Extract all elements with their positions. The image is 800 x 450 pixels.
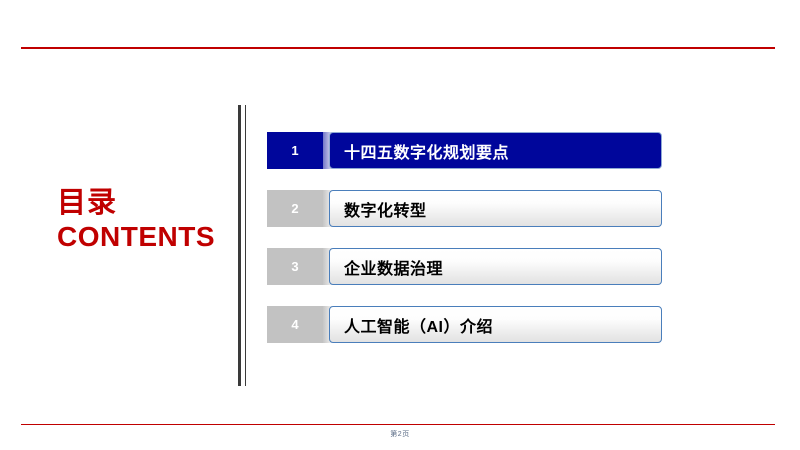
agenda-item-4[interactable]: 4 人工智能（AI）介绍 — [267, 306, 662, 343]
agenda-item-1-label[interactable]: 十四五数字化规划要点 — [329, 132, 662, 169]
agenda-item-4-number: 4 — [267, 306, 323, 343]
page-title: 目录 CONTENTS — [57, 188, 232, 251]
agenda-item-4-label[interactable]: 人工智能（AI）介绍 — [329, 306, 662, 343]
vertical-accent-bar-thin — [245, 105, 246, 386]
agenda-item-3-number: 3 — [267, 248, 323, 285]
vertical-accent-bar-thick — [238, 105, 241, 386]
agenda-item-3[interactable]: 3 企业数据治理 — [267, 248, 662, 285]
page-title-chinese: 目录 — [57, 188, 232, 219]
agenda-item-2-number: 2 — [267, 190, 323, 227]
bottom-divider-rule — [21, 424, 775, 425]
agenda-item-1-number: 1 — [267, 132, 323, 169]
slide-canvas: 目录 CONTENTS 1 十四五数字化规划要点 2 数字化转型 3 企业数据治… — [0, 0, 800, 450]
agenda-list: 1 十四五数字化规划要点 2 数字化转型 3 企业数据治理 4 人工智能（AI）… — [267, 132, 662, 343]
agenda-item-2[interactable]: 2 数字化转型 — [267, 190, 662, 227]
agenda-item-2-label[interactable]: 数字化转型 — [329, 190, 662, 227]
top-divider-rule — [21, 47, 775, 49]
agenda-item-1[interactable]: 1 十四五数字化规划要点 — [267, 132, 662, 169]
page-title-english: CONTENTS — [57, 222, 232, 252]
agenda-item-3-label[interactable]: 企业数据治理 — [329, 248, 662, 285]
footer-page-number: 第2页 — [0, 429, 800, 439]
